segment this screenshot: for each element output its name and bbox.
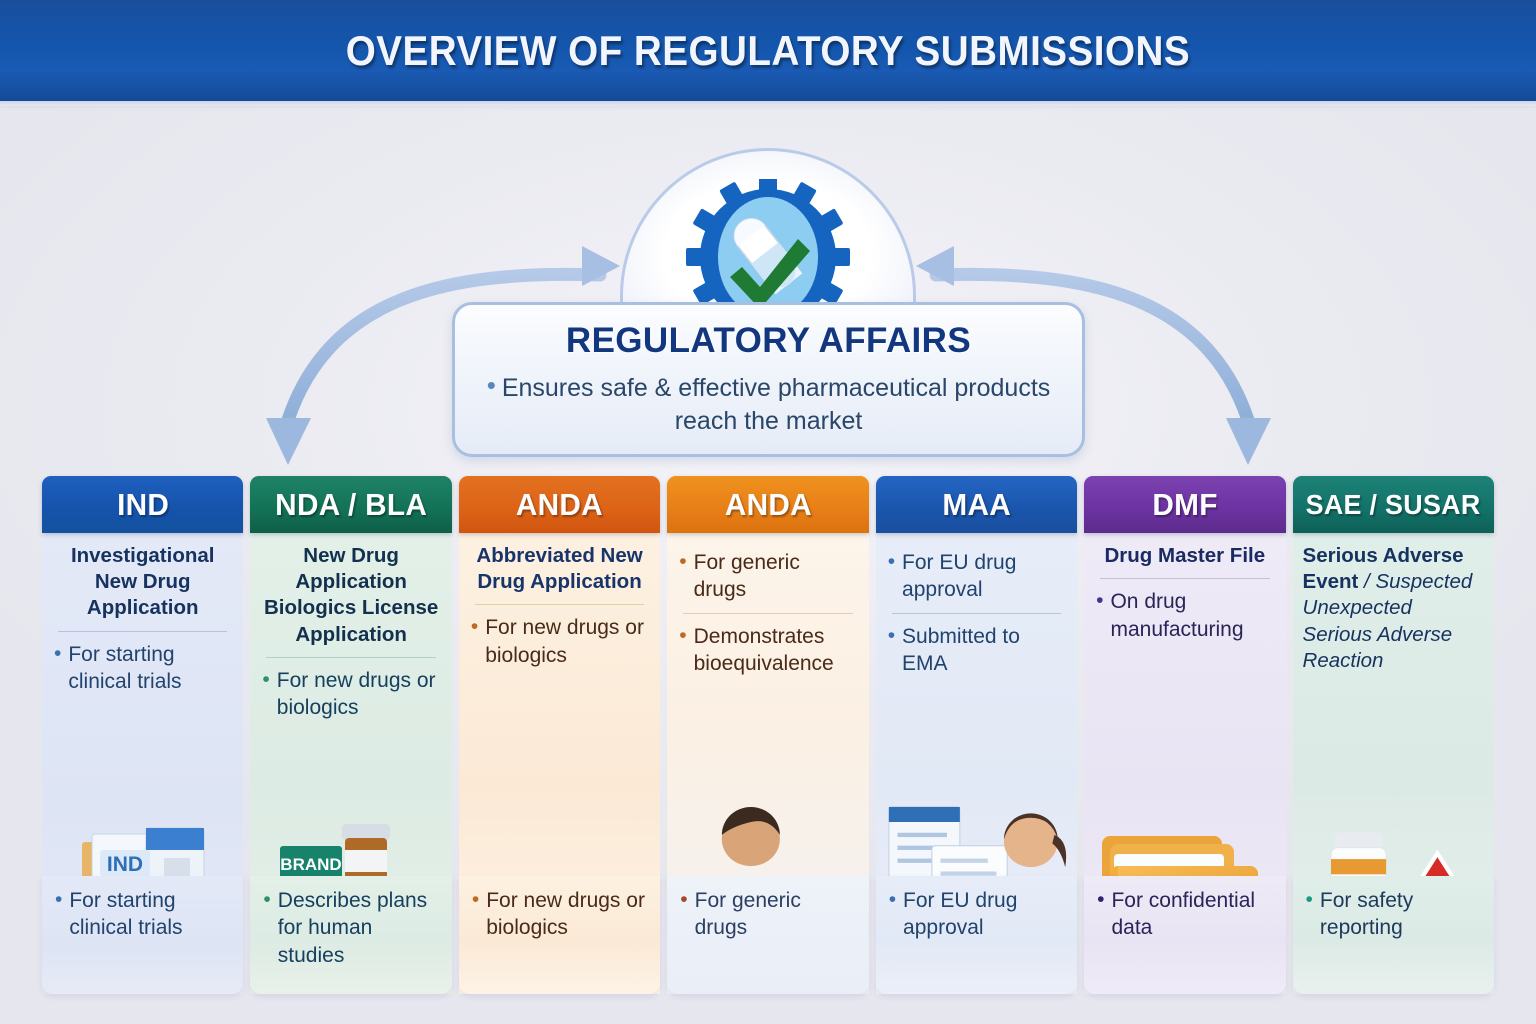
recap-text: For safety reporting	[1320, 887, 1481, 942]
recap-text: For EU drug approval	[903, 887, 1064, 942]
divider	[683, 613, 852, 614]
bullet-text: For starting clinical trials	[68, 641, 231, 696]
divider	[475, 604, 644, 605]
bullet-text: For new drugs or biologics	[277, 667, 440, 722]
infographic-page: OVERVIEW OF REGULATORY SUBMISSIONS	[0, 0, 1536, 1024]
bullet-text: For generic drugs	[694, 549, 857, 604]
svg-text:BRAND: BRAND	[281, 855, 342, 874]
bullet-text: Demonstrates bioequivalence	[694, 623, 857, 678]
bullet-dot-icon: •	[679, 623, 686, 649]
recap-bullet: • For starting clinical trials	[53, 887, 232, 942]
column-fullname-ind: Investigational New Drug Application	[52, 543, 233, 622]
bullet-text: For EU drug approval	[902, 549, 1065, 604]
bullet-dot-icon: •	[55, 887, 62, 913]
column-header-sae-susar: SAE / SUSAR	[1293, 476, 1494, 533]
page-title: OVERVIEW OF REGULATORY SUBMISSIONS	[346, 27, 1190, 75]
arrow-left-head	[266, 418, 311, 465]
column-code-anda-2: ANDA	[724, 487, 811, 523]
divider	[1100, 578, 1269, 579]
recap-ind[interactable]: • For starting clinical trials	[42, 876, 243, 994]
recap-text: For starting clinical trials	[69, 887, 230, 942]
central-card-bullet: Ensures safe & effective pharmaceutical …	[502, 374, 1050, 435]
bullet-dot-icon: •	[888, 549, 895, 575]
bullet-dot-icon: •	[680, 887, 687, 913]
column-header-ind: IND	[42, 476, 243, 533]
column-fullname-nda-bla: New Drug Application Biologics License A…	[260, 543, 441, 648]
recap-dmf[interactable]: • For confidential data	[1084, 876, 1285, 994]
recap-text: For new drugs or biologics	[486, 887, 647, 942]
column-fullname-dmf: Drug Master File	[1094, 543, 1275, 569]
recap-bullet: • Describes plans for human studies	[261, 887, 440, 969]
central-card-title: REGULATORY AFFAIRS	[481, 321, 1056, 361]
divider	[58, 631, 227, 632]
bullet-text: Submitted to EMA	[902, 623, 1065, 678]
recap-text: For confidential data	[1111, 887, 1272, 942]
recap-bullet: • For confidential data	[1095, 887, 1274, 942]
arrow-right-head	[1226, 418, 1271, 465]
bullet-dot-icon: •	[263, 887, 270, 913]
banner-underline	[0, 101, 1536, 106]
recap-maa[interactable]: • For EU drug approval	[876, 876, 1077, 994]
column-bullet: • For new drugs or biologics	[260, 667, 441, 722]
recap-sae-susar[interactable]: • For safety reporting	[1293, 876, 1494, 994]
recap-bullet: • For new drugs or biologics	[470, 887, 649, 942]
page-header-banner: OVERVIEW OF REGULATORY SUBMISSIONS	[0, 0, 1536, 101]
bullet-dot-icon: •	[472, 887, 479, 913]
recap-bullet: • For generic drugs	[678, 887, 857, 942]
recap-bullet: • For safety reporting	[1304, 887, 1483, 942]
bullet-dot-icon: •	[487, 370, 496, 400]
recap-text: Describes plans for human studies	[278, 887, 439, 969]
column-code-maa: MAA	[942, 487, 1011, 523]
column-code-dmf: DMF	[1152, 487, 1217, 523]
bullet-dot-icon: •	[888, 623, 895, 649]
bullet-text: On drug manufacturing	[1110, 588, 1273, 643]
column-bullet: • For generic drugs	[677, 549, 858, 604]
column-code-anda-1: ANDA	[516, 487, 603, 523]
column-bullet: • On drug manufacturing	[1094, 588, 1275, 643]
bullet-dot-icon: •	[1306, 887, 1313, 913]
central-card-bullet-row: •Ensures safe & effective pharmaceutical…	[481, 368, 1056, 438]
column-bullet: • For starting clinical trials	[52, 641, 233, 696]
bullet-dot-icon: •	[1096, 588, 1103, 614]
column-code-ind: IND	[117, 487, 169, 523]
bullet-dot-icon: •	[679, 549, 686, 575]
column-header-nda-bla: NDA / BLA	[250, 476, 451, 533]
recap-row: • For starting clinical trials • Describ…	[42, 876, 1494, 994]
column-fullname-anda-1: Abbreviated New Drug Application	[469, 543, 650, 595]
central-concept-card: REGULATORY AFFAIRS •Ensures safe & effec…	[452, 302, 1085, 457]
column-code-nda-bla: NDA / BLA	[275, 487, 427, 523]
bullet-text: For new drugs or biologics	[485, 614, 648, 669]
bullet-dot-icon: •	[889, 887, 896, 913]
svg-text:IND: IND	[107, 853, 143, 876]
bullet-dot-icon: •	[54, 641, 61, 667]
column-bullet: • Demonstrates bioequivalence	[677, 623, 858, 678]
column-fullname-sae-susar: Serious Adverse Event / Suspected Unexpe…	[1303, 543, 1484, 674]
bullet-dot-icon: •	[1097, 887, 1104, 913]
column-code-sae-susar: SAE / SUSAR	[1306, 489, 1481, 521]
recap-anda-1[interactable]: • For new drugs or biologics	[459, 876, 660, 994]
recap-bullet: • For EU drug approval	[887, 887, 1066, 942]
divider	[266, 657, 435, 658]
column-header-anda-1: ANDA	[459, 476, 660, 533]
column-bullet: • For new drugs or biologics	[469, 614, 650, 669]
column-bullet: • For EU drug approval	[886, 549, 1067, 604]
recap-nda-bla[interactable]: • Describes plans for human studies	[250, 876, 451, 994]
recap-text: For generic drugs	[695, 887, 856, 942]
bullet-dot-icon: •	[262, 667, 269, 693]
column-header-anda-2: ANDA	[667, 476, 868, 533]
recap-anda-2[interactable]: • For generic drugs	[667, 876, 868, 994]
column-header-dmf: DMF	[1084, 476, 1285, 533]
bullet-dot-icon: •	[471, 614, 478, 640]
divider	[892, 613, 1061, 614]
column-header-maa: MAA	[876, 476, 1077, 533]
column-bullet: • Submitted to EMA	[886, 623, 1067, 678]
